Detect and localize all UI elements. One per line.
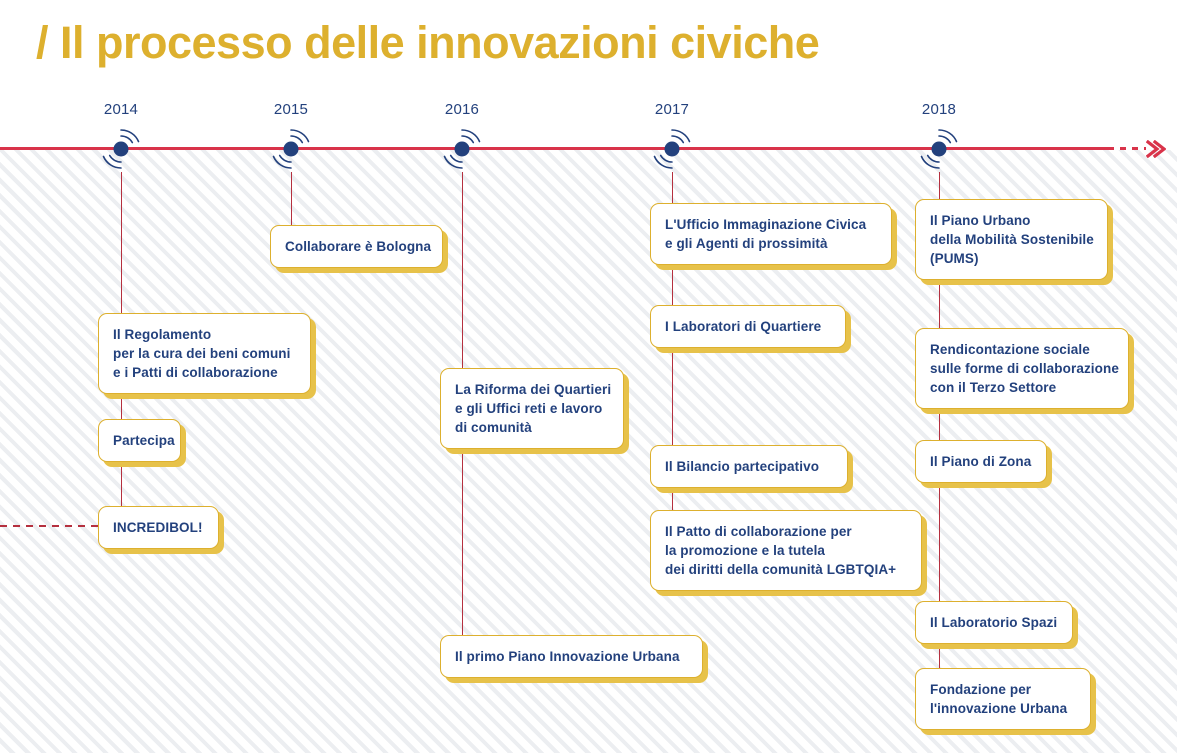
event-box-label: Il Piano Urbano della Mobilità Sostenibi… — [930, 211, 1094, 268]
event-box-partecipa[interactable]: Partecipa — [98, 419, 181, 462]
stem-2016-b — [462, 440, 463, 636]
timeline-node-icon-2014[interactable] — [98, 126, 144, 172]
stem-2015-a — [291, 172, 292, 226]
stem-2018-d — [939, 476, 940, 602]
event-box-label: INCREDIBOL! — [113, 518, 203, 537]
event-box-piano-di-zona[interactable]: Il Piano di Zona — [915, 440, 1047, 483]
event-box-pums[interactable]: Il Piano Urbano della Mobilità Sostenibi… — [915, 199, 1108, 280]
stem-2018-a — [939, 172, 940, 200]
year-label-2017: 2017 — [655, 101, 689, 118]
year-label-2014: 2014 — [104, 101, 138, 118]
timeline-node-icon-2016[interactable] — [439, 126, 485, 172]
timeline-node-icon-2015[interactable] — [268, 126, 314, 172]
event-box-collaborare-e-bologna[interactable]: Collaborare è Bologna — [270, 225, 443, 268]
event-box-laboratorio-spazi[interactable]: Il Laboratorio Spazi — [915, 601, 1073, 644]
event-box-riforma-quartieri[interactable]: La Riforma dei Quartieri e gli Uffici re… — [440, 368, 624, 449]
event-box-label: I Laboratori di Quartiere — [665, 317, 821, 336]
timeline-node-icon-2017[interactable] — [649, 126, 695, 172]
stem-2016-a — [462, 172, 463, 369]
event-box-label: Il Bilancio partecipativo — [665, 457, 819, 476]
event-box-label: Il Laboratorio Spazi — [930, 613, 1057, 632]
event-box-incredibol[interactable]: INCREDIBOL! — [98, 506, 219, 549]
event-box-bilancio-partecipativo[interactable]: Il Bilancio partecipativo — [650, 445, 848, 488]
event-box-label: Rendicontazione sociale sulle forme di c… — [930, 340, 1119, 397]
event-box-label: L'Ufficio Immaginazione Civica e gli Age… — [665, 215, 866, 253]
infographic-canvas: / Il processo delle innovazioni civiche … — [0, 0, 1177, 753]
event-box-label: Il Piano di Zona — [930, 452, 1031, 471]
event-box-primo-piano-innovazione-urbana[interactable]: Il primo Piano Innovazione Urbana — [440, 635, 703, 678]
year-label-2016: 2016 — [445, 101, 479, 118]
event-box-laboratori-di-quartiere[interactable]: I Laboratori di Quartiere — [650, 305, 846, 348]
arrow-right-icon — [1146, 140, 1166, 158]
event-box-patto-lgbtqia[interactable]: Il Patto di collaborazione per la promoz… — [650, 510, 922, 591]
event-box-label: La Riforma dei Quartieri e gli Uffici re… — [455, 380, 611, 437]
stem-2014-a — [121, 172, 122, 314]
event-box-label: Il Regolamento per la cura dei beni comu… — [113, 325, 291, 382]
event-box-rendicontazione-sociale[interactable]: Rendicontazione sociale sulle forme di c… — [915, 328, 1129, 409]
event-box-label: Partecipa — [113, 431, 175, 450]
stem-2017-a — [672, 172, 673, 204]
stem-2014-c — [121, 455, 122, 507]
event-box-label: Il primo Piano Innovazione Urbana — [455, 647, 680, 666]
event-box-label: Il Patto di collaborazione per la promoz… — [665, 522, 896, 579]
event-box-ufficio-immaginazione-civica[interactable]: L'Ufficio Immaginazione Civica e gli Age… — [650, 203, 892, 265]
year-label-2018: 2018 — [922, 101, 956, 118]
incredibol-feeder-dashed-line — [0, 525, 104, 527]
page-title: / Il processo delle innovazioni civiche — [36, 17, 819, 69]
event-box-label: Collaborare è Bologna — [285, 237, 431, 256]
event-box-label: Fondazione per l'innovazione Urbana — [930, 680, 1067, 718]
event-box-fondazione-innovazione-urbana[interactable]: Fondazione per l'innovazione Urbana — [915, 668, 1091, 730]
event-box-regolamento-beni-comuni[interactable]: Il Regolamento per la cura dei beni comu… — [98, 313, 311, 394]
stem-2017-c — [672, 341, 673, 446]
timeline-node-icon-2018[interactable] — [916, 126, 962, 172]
year-label-2015: 2015 — [274, 101, 308, 118]
timeline-axis-dashed-tail — [1108, 147, 1146, 150]
